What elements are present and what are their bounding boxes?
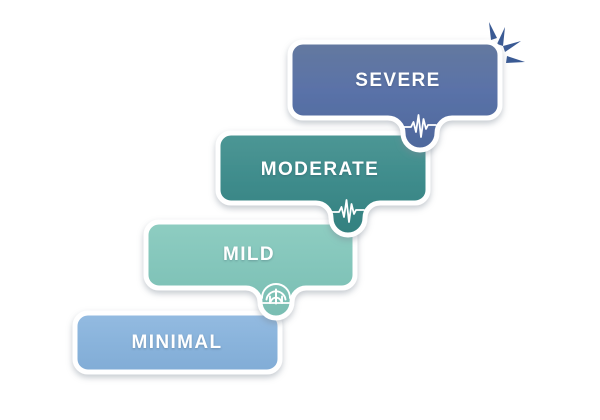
step-shape-minimal[interactable] (75, 313, 280, 372)
step-body-mild (146, 222, 355, 318)
severity-steps-graphic (0, 0, 600, 420)
step-body-minimal (75, 313, 280, 372)
infographic-canvas: SEVERE MODERATE MILD MINIMAL (0, 0, 600, 420)
step-shape-mild[interactable] (146, 222, 355, 318)
